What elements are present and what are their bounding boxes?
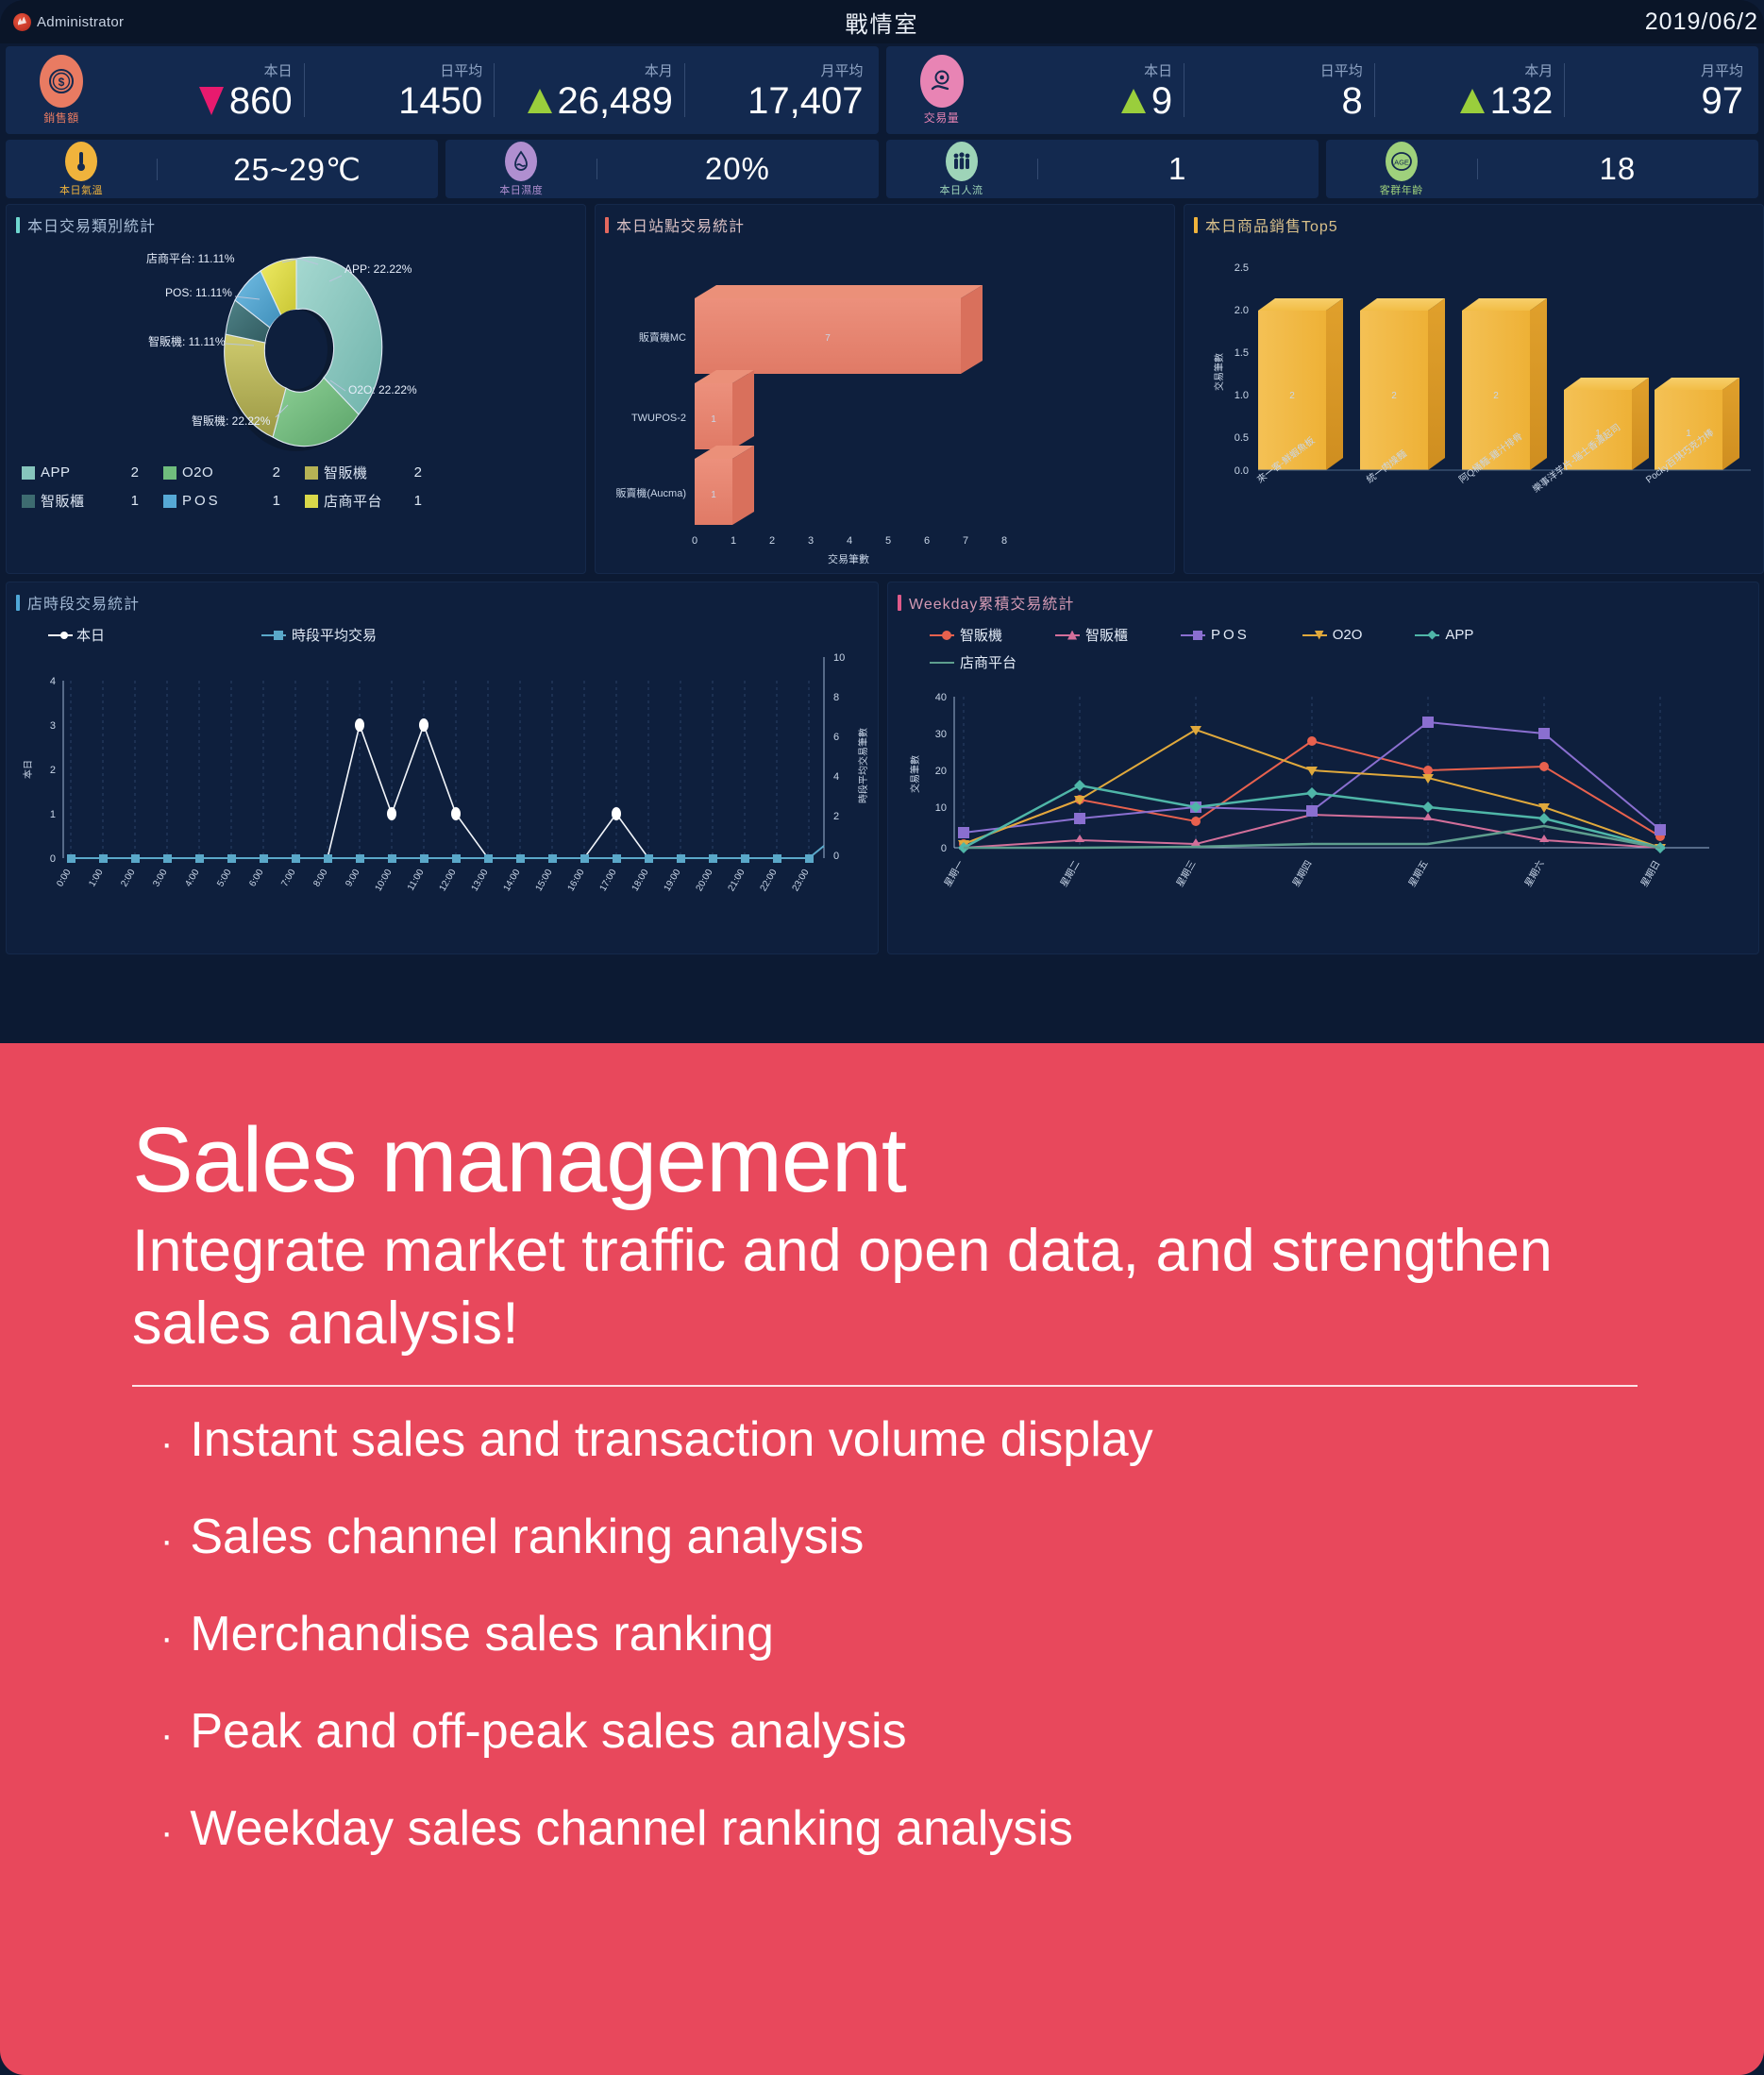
panel-hourly-transactions: 店時段交易統計 本日 時段平均交易 bbox=[6, 582, 879, 954]
charts-row-top: 本日交易類別統計 bbox=[6, 204, 1758, 574]
legend-label: 店商平台 bbox=[960, 652, 1016, 672]
panel-title-row: 本日商品銷售Top5 bbox=[1184, 205, 1763, 240]
legend-item-o2o[interactable]: O2O bbox=[1302, 625, 1363, 645]
legend-item-app[interactable]: APP 2 bbox=[22, 463, 163, 482]
x-tick-label: 11:00 bbox=[406, 868, 427, 893]
panel-weekday-transactions: Weekday累積交易統計 智販機 智販櫃 bbox=[887, 582, 1759, 954]
y-tick-right: 2 bbox=[833, 811, 839, 822]
env-block-temperature[interactable]: 本日氣溫 25~29℃ bbox=[6, 140, 438, 198]
bar-value-label: 1 bbox=[711, 490, 716, 500]
title-accent-bar bbox=[16, 595, 20, 611]
legend-marker bbox=[942, 658, 951, 667]
bar-value-label: 7 bbox=[825, 333, 831, 344]
env-icon-label-temperature: 本日氣溫 bbox=[59, 182, 103, 197]
x-axis-label: 交易筆數 bbox=[828, 552, 869, 565]
list-item-label: Merchandise sales ranking bbox=[190, 1610, 774, 1659]
y-tick-left: 2 bbox=[50, 765, 56, 776]
legend-label: O2O bbox=[1333, 627, 1363, 643]
legend-marker bbox=[942, 631, 951, 640]
bar-value-label: 2 bbox=[1493, 391, 1499, 401]
x-tick: 5 bbox=[885, 535, 891, 547]
top5-bar-chart: 2.5 2.0 1.5 1.0 0.5 0.0 交易筆數 2 bbox=[1184, 240, 1763, 570]
x-tick-label: 星期日 bbox=[1638, 859, 1662, 889]
bullet-icon: · bbox=[160, 1522, 173, 1560]
kpi-icon-label-transactions: 交易量 bbox=[924, 110, 960, 126]
title-accent-bar bbox=[16, 217, 20, 233]
legend-item-zhifangui[interactable]: 智販櫃 1 bbox=[22, 491, 163, 511]
panel-title-weekday: Weekday累積交易統計 bbox=[909, 591, 1074, 614]
kpi-cell-value-wrap: 132 bbox=[1460, 82, 1554, 120]
y-axis-label-right: 時段平均交易筆數 bbox=[857, 728, 869, 803]
list-item: · Sales channel ranking analysis bbox=[132, 1512, 1764, 1561]
legend-item-zhifanji[interactable]: 智販機 bbox=[930, 625, 1002, 645]
env-icon-group-temperature: 本日氣溫 bbox=[6, 142, 157, 197]
legend-color-chip bbox=[305, 466, 318, 480]
bar-category-label: TWUPOS-2 bbox=[631, 413, 686, 424]
kpi-cell-monthly-avg: 月平均 17,407 bbox=[684, 46, 875, 134]
kpi-cell-value: 1450 bbox=[398, 82, 482, 120]
x-tick-label: 2:00 bbox=[119, 868, 137, 889]
env-value-humidity: 20% bbox=[596, 151, 878, 187]
legend-color-chip bbox=[163, 495, 176, 508]
legend-count: 2 bbox=[414, 464, 446, 481]
panel-title-row: Weekday累積交易統計 bbox=[888, 582, 1758, 617]
legend-color-chip bbox=[22, 495, 35, 508]
trend-up-icon bbox=[528, 89, 552, 113]
list-item: · Instant sales and transaction volume d… bbox=[132, 1415, 1764, 1464]
legend-label: O2O bbox=[182, 464, 213, 481]
legend-label: APP bbox=[1445, 627, 1473, 643]
transaction-hand-icon bbox=[920, 55, 964, 108]
legend-label: POS bbox=[1211, 627, 1250, 643]
title-accent-bar bbox=[898, 595, 901, 611]
x-tick: 2 bbox=[769, 535, 775, 547]
legend-count: 2 bbox=[273, 464, 305, 481]
x-tick-label: 21:00 bbox=[727, 868, 748, 894]
legend-item-dianshang[interactable]: 店商平台 bbox=[930, 652, 1705, 672]
kpi-cell-label: 日平均 bbox=[440, 60, 482, 80]
legend-marker bbox=[274, 631, 283, 640]
y-tick: 0 bbox=[941, 843, 947, 854]
donut-label-zhifanji: 智販機: 22.22% bbox=[192, 413, 271, 428]
x-tick: 8 bbox=[1001, 535, 1007, 547]
kpi-cell-value-wrap: 97 bbox=[1702, 82, 1744, 120]
legend-label: 時段平均交易 bbox=[292, 625, 377, 645]
x-tick-label: 22:00 bbox=[759, 868, 780, 894]
list-item: · Merchandise sales ranking bbox=[132, 1610, 1764, 1659]
site-bar-chart: 7 販賣機MC 1 TWUPOS-2 1 販賣機(Aucma) bbox=[596, 240, 1174, 570]
list-item-label: Peak and off-peak sales analysis bbox=[190, 1707, 906, 1756]
y-tick-right: 4 bbox=[833, 771, 839, 783]
kpi-icon-label-sales: 銷售額 bbox=[43, 110, 79, 126]
panel-title-row: 本日交易類別統計 bbox=[7, 205, 585, 240]
list-item-label: Sales channel ranking analysis bbox=[190, 1512, 864, 1561]
x-tick-label: 19:00 bbox=[663, 868, 683, 894]
env-value-foot-traffic: 1 bbox=[1037, 151, 1319, 187]
top5-bar-2: 2 bbox=[1360, 298, 1445, 470]
kpi-icon-group-transactions: 交易量 bbox=[890, 55, 994, 126]
x-tick: 6 bbox=[924, 535, 930, 547]
panel-title-hourly: 店時段交易統計 bbox=[27, 591, 140, 614]
y-tick-right: 8 bbox=[833, 692, 839, 703]
list-item: · Weekday sales channel ranking analysis bbox=[132, 1804, 1764, 1853]
page-title: 戰情室 bbox=[0, 6, 1764, 39]
x-tick-label: 18:00 bbox=[630, 868, 651, 894]
x-tick-label: 星期一 bbox=[942, 859, 966, 889]
legend-label: POS bbox=[182, 493, 221, 509]
donut-label-app: APP: 22.22% bbox=[344, 262, 412, 276]
panel-site-transactions: 本日站點交易統計 7 販賣機MC bbox=[595, 204, 1175, 574]
x-tick-label: 20:00 bbox=[695, 868, 715, 894]
kpi-cell-daily-avg: 日平均 1450 bbox=[304, 46, 495, 134]
legend-count: 2 bbox=[131, 464, 163, 481]
legend-color-chip bbox=[22, 466, 35, 480]
list-item: · Peak and off-peak sales analysis bbox=[132, 1707, 1764, 1756]
kpi-cell-value: 97 bbox=[1702, 82, 1744, 120]
kpi-cell-label: 本月 bbox=[645, 60, 673, 80]
x-tick: 4 bbox=[847, 535, 852, 547]
svg-text:$: $ bbox=[59, 76, 65, 89]
dashboard-panel: Administrator 戰情室 2019/06/2 $ 銷售額 bbox=[0, 0, 1764, 1043]
kpi-cell-value: 132 bbox=[1490, 82, 1554, 120]
legend-item-pos[interactable]: POS bbox=[1181, 625, 1250, 645]
legend-item-dianshang[interactable]: 店商平台 1 bbox=[305, 491, 446, 511]
kpi-cell-month: 本月 132 bbox=[1374, 46, 1565, 134]
x-tick-label: 1:00 bbox=[87, 868, 105, 889]
promo-section: Sales management Integrate market traffi… bbox=[0, 1043, 1764, 2075]
legend-color-chip bbox=[305, 495, 318, 508]
list-item-label: Weekday sales channel ranking analysis bbox=[190, 1804, 1073, 1853]
legend-count: 1 bbox=[414, 493, 446, 509]
x-tick-label: 7:00 bbox=[279, 868, 297, 889]
env-block-customer-age[interactable]: AGE 客群年齡 18 bbox=[1326, 140, 1758, 198]
promo-subtitle: Integrate market traffic and open data, … bbox=[132, 1215, 1652, 1360]
legend-label: 智販機 bbox=[960, 625, 1002, 645]
customer-age-icon: AGE bbox=[1386, 142, 1418, 181]
env-icon-group-customer-age: AGE 客群年齡 bbox=[1326, 142, 1477, 197]
x-tick-label: 10:00 bbox=[374, 868, 395, 894]
legend-label: 智販櫃 bbox=[1085, 625, 1128, 645]
y-tick: 2.5 bbox=[1235, 262, 1249, 274]
x-tick-label: 6:00 bbox=[247, 868, 265, 889]
x-tick: 1 bbox=[731, 535, 736, 547]
kpi-cell-label: 本日 bbox=[1144, 60, 1172, 80]
kpi-cell-value-wrap: 9 bbox=[1121, 82, 1172, 120]
legend-label: 店商平台 bbox=[324, 491, 382, 511]
env-icon-group-humidity: 本日濕度 bbox=[445, 142, 596, 197]
donut-label-dianshang: 店商平台: 11.11% bbox=[146, 251, 235, 265]
title-accent-bar bbox=[1194, 217, 1198, 233]
bullet-icon: · bbox=[160, 1425, 173, 1462]
top-bar: Administrator 戰情室 2019/06/2 bbox=[0, 0, 1764, 43]
legend-label: 智販櫃 bbox=[41, 491, 85, 511]
x-tick-label: 星期五 bbox=[1406, 859, 1430, 889]
y-tick: 30 bbox=[935, 729, 947, 740]
x-tick-label: 星期二 bbox=[1058, 859, 1082, 889]
env-block-humidity[interactable]: 本日濕度 20% bbox=[445, 140, 878, 198]
bar-category-label: 販賣機(Aucma) bbox=[615, 486, 686, 499]
x-tick: 7 bbox=[963, 535, 968, 547]
y-axis-label-left: 本日 bbox=[22, 760, 34, 779]
kpi-cell-value: 860 bbox=[229, 82, 293, 120]
kpi-cell-label: 本日 bbox=[264, 60, 293, 80]
list-item-label: Instant sales and transaction volume dis… bbox=[190, 1415, 1152, 1464]
top5-bar-5: 1 bbox=[1655, 378, 1739, 470]
y-tick-left: 0 bbox=[50, 853, 56, 865]
legend-item-zhifanji[interactable]: 智販機 2 bbox=[305, 463, 446, 482]
kpi-row: $ 銷售額 本日 860 日平均 bbox=[0, 43, 1764, 134]
env-value-temperature: 25~29℃ bbox=[157, 151, 438, 188]
kpi-cell-today: 本日 9 bbox=[994, 46, 1184, 134]
donut-label-pos: POS: 11.11% bbox=[165, 286, 232, 299]
bar-value-label: 1 bbox=[711, 414, 716, 425]
kpi-cell-value: 8 bbox=[1342, 82, 1363, 120]
sales-coin-icon: $ bbox=[40, 55, 83, 108]
env-icon-label-customer-age: 客群年齡 bbox=[1380, 182, 1423, 197]
kpi-cell-daily-avg: 日平均 8 bbox=[1184, 46, 1374, 134]
svg-text:AGE: AGE bbox=[1394, 158, 1409, 166]
y-tick: 0.0 bbox=[1235, 465, 1249, 477]
y-tick: 0.5 bbox=[1235, 432, 1249, 444]
x-tick-label: 星期六 bbox=[1522, 859, 1546, 889]
y-axis-label: 交易筆數 bbox=[1213, 353, 1225, 391]
kpi-cell-label: 月平均 bbox=[820, 60, 863, 80]
x-tick: 3 bbox=[808, 535, 814, 547]
kpi-cell-label: 日平均 bbox=[1320, 60, 1363, 80]
panel-title-site: 本日站點交易統計 bbox=[616, 213, 745, 236]
kpi-cell-value-wrap: 26,489 bbox=[528, 82, 673, 120]
legend-item-app[interactable]: APP bbox=[1415, 625, 1473, 645]
environment-row: 本日氣溫 25~29℃ 本日濕度 20% bbox=[0, 134, 1764, 198]
x-tick: 0 bbox=[692, 535, 697, 547]
legend-label: APP bbox=[41, 464, 71, 481]
kpi-cell-value: 17,407 bbox=[748, 82, 863, 120]
series-today-line bbox=[71, 725, 809, 858]
env-icon-label-foot-traffic: 本日人流 bbox=[940, 182, 983, 197]
trend-up-icon bbox=[1460, 89, 1485, 113]
x-tick-label: 0:00 bbox=[55, 868, 73, 889]
legend-marker bbox=[1427, 631, 1436, 640]
humidity-drop-icon bbox=[505, 142, 537, 181]
people-flow-icon bbox=[946, 142, 978, 181]
y-tick: 1.0 bbox=[1235, 390, 1249, 401]
y-tick-left: 3 bbox=[50, 720, 56, 732]
legend-color-chip bbox=[163, 466, 176, 480]
y-axis-label: 交易筆數 bbox=[909, 755, 921, 793]
legend-count: 1 bbox=[273, 493, 305, 509]
screenshot-root: Administrator 戰情室 2019/06/2 $ 銷售額 bbox=[0, 0, 1764, 2075]
hourly-line-chart: 4 3 2 1 0 本日 10 8 6 4 2 0 時段平均 bbox=[7, 652, 878, 936]
trend-down-icon bbox=[199, 87, 224, 115]
x-tick-label: 4:00 bbox=[183, 868, 201, 889]
panel-title-top5: 本日商品銷售Top5 bbox=[1205, 213, 1338, 236]
kpi-block-transactions[interactable]: 交易量 本日 9 日平均 8 bbox=[886, 46, 1759, 134]
hourly-legend: 本日 時段平均交易 bbox=[7, 617, 878, 652]
y-tick-right: 0 bbox=[833, 851, 839, 862]
bullet-icon: · bbox=[160, 1814, 173, 1851]
panel-title-donut: 本日交易類別統計 bbox=[27, 213, 156, 236]
legend-marker bbox=[1193, 631, 1202, 640]
bar-value-label: 2 bbox=[1391, 391, 1397, 401]
y-tick-left: 4 bbox=[50, 676, 56, 687]
title-accent-bar bbox=[605, 217, 609, 233]
x-tick-label: 17:00 bbox=[598, 868, 619, 894]
x-tick-label: 16:00 bbox=[566, 868, 587, 894]
kpi-cell-today: 本日 860 bbox=[113, 46, 304, 134]
x-tick-label: 星期三 bbox=[1174, 859, 1198, 889]
legend-item-hour-avg[interactable]: 時段平均交易 bbox=[261, 625, 377, 645]
kpi-cell-value-wrap: 8 bbox=[1342, 82, 1363, 120]
donut-chart: 店商平台: 11.11% APP: 22.22% POS: 11.11% 智販機… bbox=[7, 240, 585, 457]
y-tick-right: 6 bbox=[833, 732, 839, 743]
legend-line bbox=[1055, 634, 1080, 636]
bullet-icon: · bbox=[160, 1619, 173, 1657]
panel-title-row: 本日站點交易統計 bbox=[596, 205, 1174, 240]
weekday-legend: 智販機 智販櫃 POS bbox=[888, 617, 1758, 680]
y-tick-left: 1 bbox=[50, 809, 56, 820]
kpi-cells-transactions: 本日 9 日平均 8 本月 bbox=[994, 46, 1756, 134]
y-tick-right: 10 bbox=[833, 652, 845, 664]
legend-item-pos[interactable]: POS 1 bbox=[163, 491, 305, 511]
donut-label-zhifangui: 智販機: 11.11% bbox=[148, 334, 226, 348]
legend-item-o2o[interactable]: O2O 2 bbox=[163, 463, 305, 482]
env-value-customer-age: 18 bbox=[1477, 151, 1758, 187]
bar-value-label: 2 bbox=[1289, 391, 1295, 401]
kpi-cell-value: 26,489 bbox=[558, 82, 673, 120]
y-tick: 2.0 bbox=[1235, 305, 1249, 316]
kpi-cells-sales: 本日 860 日平均 1450 本月 bbox=[113, 46, 875, 134]
legend-item-today[interactable]: 本日 bbox=[48, 625, 105, 645]
x-tick-label: 3:00 bbox=[151, 868, 169, 889]
weekday-line-chart: 40 30 20 10 0 交易筆數 bbox=[888, 680, 1758, 927]
kpi-cell-label: 本月 bbox=[1524, 60, 1553, 80]
promo-title: Sales management bbox=[132, 1114, 1764, 1207]
x-tick-label: 9:00 bbox=[344, 868, 361, 889]
panel-title-row: 店時段交易統計 bbox=[7, 582, 878, 617]
charts-row-bottom: 店時段交易統計 本日 時段平均交易 bbox=[6, 582, 1758, 954]
charts-area: 本日交易類別統計 bbox=[0, 198, 1764, 968]
bar-value-label: 1 bbox=[1686, 429, 1691, 439]
promo-divider bbox=[132, 1385, 1638, 1387]
promo-feature-list: · Instant sales and transaction volume d… bbox=[132, 1415, 1764, 1853]
env-icon-group-foot-traffic: 本日人流 bbox=[886, 142, 1037, 197]
kpi-cell-monthly-avg: 月平均 97 bbox=[1564, 46, 1755, 134]
panel-top5-products: 本日商品銷售Top5 2.5 2.0 1.5 1.0 0.5 bbox=[1184, 204, 1764, 574]
x-tick-label: 23:00 bbox=[791, 868, 812, 894]
donut-legend: APP 2 O2O 2 智販機 2 bbox=[7, 457, 585, 529]
x-tick-label: 13:00 bbox=[470, 868, 491, 894]
kpi-cell-value-wrap: 17,407 bbox=[748, 82, 863, 120]
bullet-icon: · bbox=[160, 1716, 173, 1754]
x-tick-label: 15:00 bbox=[534, 868, 555, 894]
kpi-cell-value: 9 bbox=[1151, 82, 1172, 120]
legend-count: 1 bbox=[131, 493, 163, 509]
legend-line bbox=[1302, 634, 1327, 636]
x-tick-label: 8:00 bbox=[311, 868, 329, 889]
donut-label-o2o: O2O: 22.22% bbox=[348, 383, 417, 396]
kpi-block-sales[interactable]: $ 銷售額 本日 860 日平均 bbox=[6, 46, 879, 134]
legend-item-zhifangui[interactable]: 智販櫃 bbox=[1055, 625, 1128, 645]
kpi-icon-group-sales: $ 銷售額 bbox=[9, 55, 113, 126]
kpi-cell-value-wrap: 1450 bbox=[398, 82, 482, 120]
y-tick: 40 bbox=[935, 692, 947, 703]
panel-transaction-category: 本日交易類別統計 bbox=[6, 204, 586, 574]
x-tick-label: 星期四 bbox=[1290, 859, 1314, 889]
kpi-cell-label: 月平均 bbox=[1701, 60, 1743, 80]
kpi-cell-value-wrap: 860 bbox=[199, 82, 293, 120]
x-tick-label: 14:00 bbox=[502, 868, 523, 894]
env-icon-label-humidity: 本日濕度 bbox=[499, 182, 543, 197]
x-tick-label: 12:00 bbox=[438, 868, 459, 894]
legend-marker bbox=[60, 632, 68, 639]
bar-category-label: 販賣機MC bbox=[639, 330, 686, 344]
y-tick: 10 bbox=[935, 802, 947, 814]
x-tick-label: 5:00 bbox=[215, 868, 233, 889]
legend-label: 本日 bbox=[76, 625, 105, 645]
y-tick: 1.5 bbox=[1235, 347, 1249, 359]
legend-label: 智販機 bbox=[324, 463, 368, 482]
env-block-foot-traffic[interactable]: 本日人流 1 bbox=[886, 140, 1319, 198]
kpi-cell-month: 本月 26,489 bbox=[494, 46, 684, 134]
trend-up-icon bbox=[1121, 89, 1146, 113]
thermometer-icon bbox=[65, 142, 97, 181]
y-tick: 20 bbox=[935, 766, 947, 777]
